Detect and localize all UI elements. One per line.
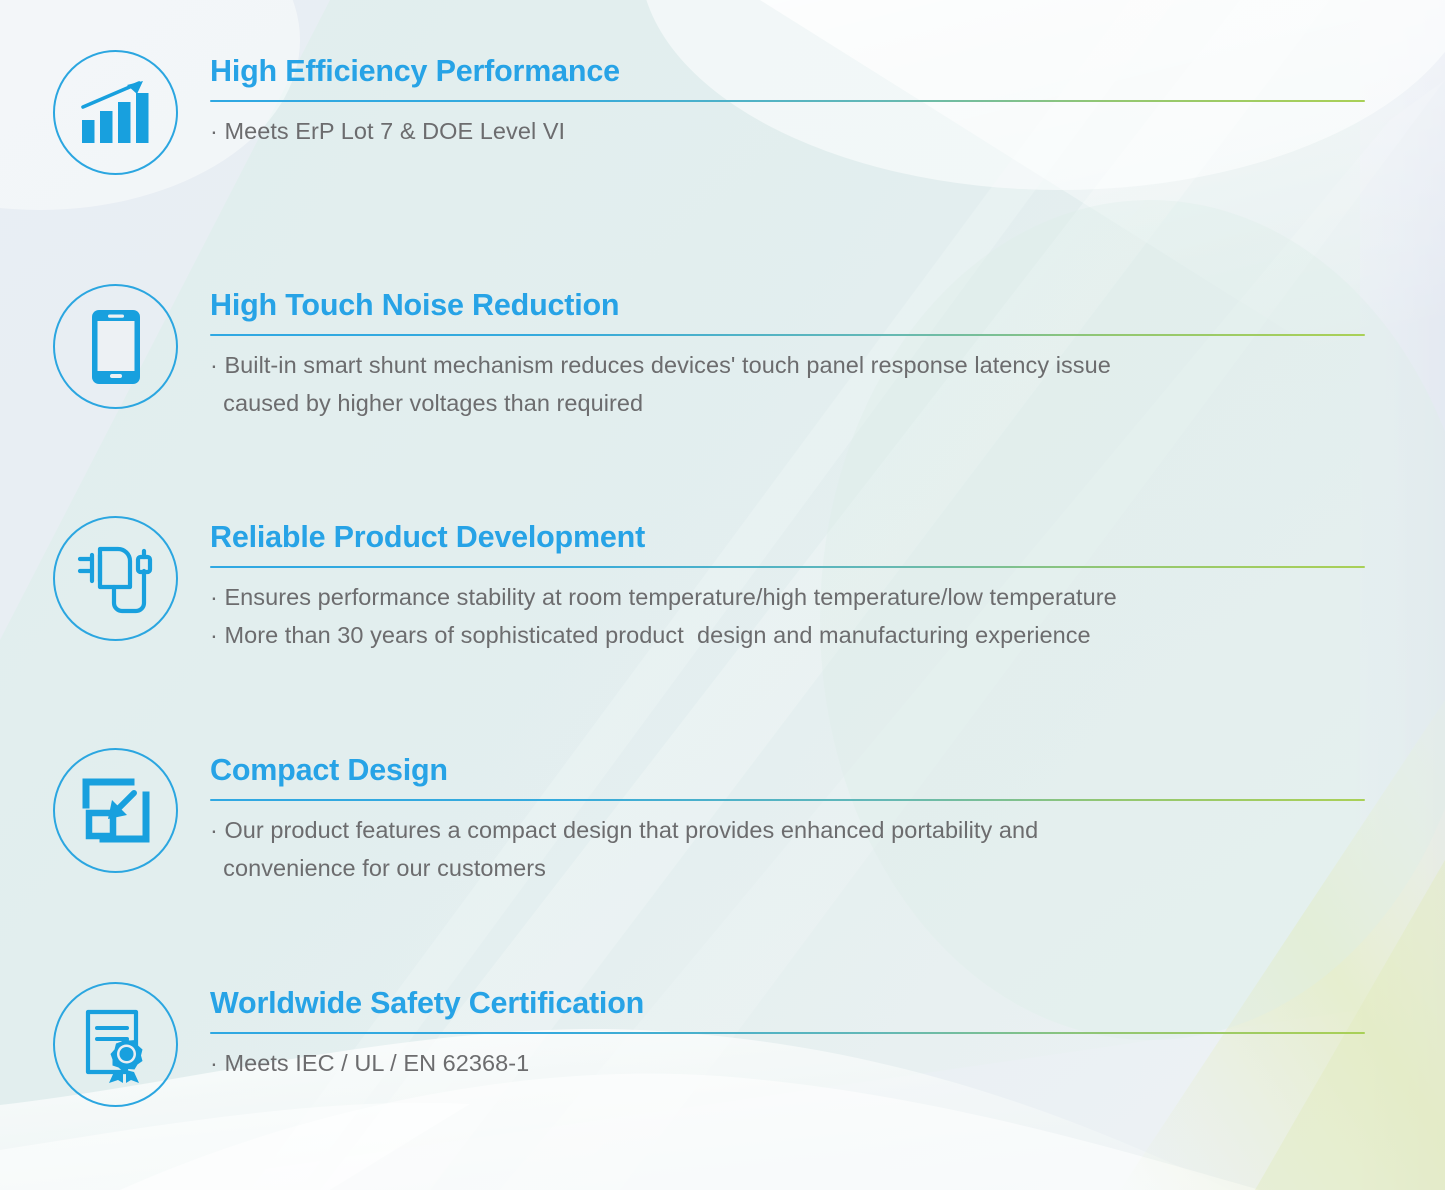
feature-bullet-line: · More than 30 years of sophisticated pr…	[210, 616, 1368, 654]
feature-title: Compact Design	[210, 755, 1368, 786]
feature-divider	[210, 334, 1365, 336]
feature-text-block: Worldwide Safety Certification · Meets I…	[210, 988, 1368, 1082]
bar-chart-growth-glyph	[77, 77, 155, 149]
feature-title: High Efficiency Performance	[210, 56, 1368, 87]
feature-divider	[210, 566, 1365, 568]
feature-text-block: High Efficiency Performance · Meets ErP …	[210, 56, 1368, 150]
feature-bullets: · Meets ErP Lot 7 & DOE Level VI	[210, 112, 1368, 150]
compact-resize-icon	[53, 748, 178, 873]
feature-bullet-line: · Meets IEC / UL / EN 62368-1	[210, 1044, 1368, 1082]
feature-bullet-line: · Ensures performance stability at room …	[210, 578, 1368, 616]
feature-divider	[210, 100, 1365, 102]
feature-bullet-line: · Built-in smart shunt mechanism reduces…	[210, 346, 1368, 384]
feature-bullet-line: convenience for our customers	[210, 849, 1368, 887]
power-adapter-glyph	[74, 541, 158, 617]
feature-bullet-line: · Our product features a compact design …	[210, 811, 1368, 849]
bar-chart-growth-icon	[53, 50, 178, 175]
feature-bullet-line: · Meets ErP Lot 7 & DOE Level VI	[210, 112, 1368, 150]
power-adapter-icon	[53, 516, 178, 641]
smartphone-glyph	[90, 308, 142, 386]
smartphone-icon	[53, 284, 178, 409]
feature-list: High Efficiency Performance · Meets ErP …	[0, 0, 1445, 1190]
feature-bullets: · Built-in smart shunt mechanism reduces…	[210, 346, 1368, 422]
feature-title: High Touch Noise Reduction	[210, 290, 1368, 321]
certificate-award-glyph	[78, 1006, 154, 1084]
feature-bullet-line: caused by higher voltages than required	[210, 384, 1368, 422]
feature-title: Reliable Product Development	[210, 522, 1368, 553]
feature-title: Worldwide Safety Certification	[210, 988, 1368, 1019]
feature-bullets: · Meets IEC / UL / EN 62368-1	[210, 1044, 1368, 1082]
compact-resize-glyph	[81, 777, 151, 845]
feature-divider	[210, 799, 1365, 801]
feature-bullets: · Ensures performance stability at room …	[210, 578, 1368, 654]
feature-text-block: Reliable Product Development · Ensures p…	[210, 522, 1368, 654]
certificate-award-icon	[53, 982, 178, 1107]
feature-divider	[210, 1032, 1365, 1034]
feature-text-block: Compact Design · Our product features a …	[210, 755, 1368, 887]
feature-text-block: High Touch Noise Reduction · Built-in sm…	[210, 290, 1368, 422]
feature-bullets: · Our product features a compact design …	[210, 811, 1368, 887]
